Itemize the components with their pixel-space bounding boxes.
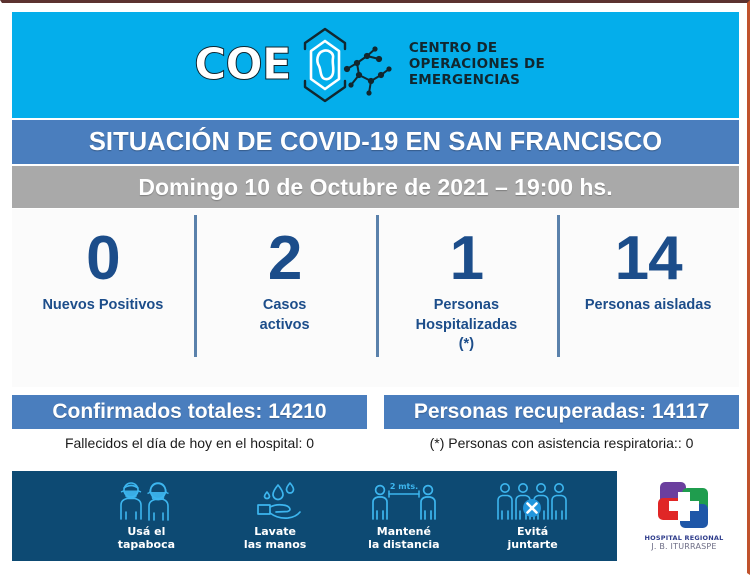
statistics-row: 0 Nuevos Positivos 2 Casos activos 1 Per… [12, 209, 739, 387]
prevention-tip-mask: Usá el tapaboca [86, 481, 206, 552]
hospital-name-line1: HOSPITAL REGIONAL [645, 534, 724, 542]
coe-hexagon-network-logo-icon [301, 23, 395, 107]
respiratory-assistance-note: (*) Personas con asistencia respiratoria… [384, 435, 739, 451]
stat-casos-activos: 2 Casos activos [194, 209, 376, 387]
hospital-cross-logo-icon [654, 480, 714, 534]
recovered-total-text: Personas recuperadas: 14117 [414, 400, 709, 424]
social-distance-icon: 2 mts. [369, 481, 439, 521]
prevention-tip-label: Usá el tapaboca [118, 525, 175, 552]
header-banner: COE [12, 12, 739, 118]
confirmed-total-banner: Confirmados totales: 14210 [12, 395, 367, 429]
stat-value: 0 [86, 227, 119, 290]
hand-washing-icon [244, 481, 306, 521]
prevention-tips-panel: Usá el tapaboca Lavate las manos 2 mts. [12, 471, 617, 561]
avoid-gathering-icon [495, 481, 571, 521]
stat-label: Personas aisladas [585, 296, 712, 316]
hospital-name-line2: J. B. ITURRASPE [651, 542, 716, 552]
stat-label: Casos activos [260, 296, 310, 335]
hospital-logo: HOSPITAL REGIONAL J. B. ITURRASPE [630, 473, 738, 559]
prevention-tip-label: Mantené la distancia [368, 525, 439, 552]
coe-subtitle: CENTRO DE OPERACIONES DE EMERGENCIAS [409, 41, 545, 89]
coe-subtitle-line1: CENTRO DE [409, 41, 545, 57]
face-mask-people-icon [113, 481, 179, 521]
stat-personas-aisladas: 14 Personas aisladas [557, 209, 739, 387]
distance-measure-label: 2 mts. [390, 482, 418, 491]
stat-value: 2 [268, 227, 301, 290]
page-title-bar: SITUACIÓN DE COVID-19 EN SAN FRANCISCO [12, 120, 739, 164]
prevention-tip-handwash: Lavate las manos [215, 481, 335, 552]
coe-subtitle-line3: EMERGENCIAS [409, 73, 545, 89]
deaths-note: Fallecidos el día de hoy en el hospital:… [12, 435, 367, 451]
coe-logo: COE [194, 23, 545, 107]
report-datetime: Domingo 10 de Octubre de 2021 – 19:00 hs… [138, 174, 612, 201]
prevention-tip-avoid-gathering: Evitá juntarte [473, 481, 593, 552]
prevention-tip-label: Evitá juntarte [507, 525, 557, 552]
prevention-tip-distance: 2 mts. Mantené la distancia [344, 481, 464, 552]
page-title: SITUACIÓN DE COVID-19 EN SAN FRANCISCO [89, 128, 662, 157]
stat-label: Nuevos Positivos [42, 296, 163, 316]
coe-wordmark: COE [194, 43, 291, 87]
stat-value: 1 [450, 227, 483, 290]
stat-nuevos-positivos: 0 Nuevos Positivos [12, 209, 194, 387]
confirmed-total-text: Confirmados totales: 14210 [52, 400, 326, 424]
stat-value: 14 [615, 227, 682, 290]
recovered-total-banner: Personas recuperadas: 14117 [384, 395, 739, 429]
covid-situation-infographic: COE [0, 0, 750, 575]
coe-subtitle-line2: OPERACIONES DE [409, 57, 545, 73]
prevention-tip-label: Lavate las manos [244, 525, 306, 552]
stat-personas-hospitalizadas: 1 Personas Hospitalizadas (*) [376, 209, 558, 387]
stat-label: Personas Hospitalizadas (*) [416, 296, 518, 355]
date-bar: Domingo 10 de Octubre de 2021 – 19:00 hs… [12, 166, 739, 208]
